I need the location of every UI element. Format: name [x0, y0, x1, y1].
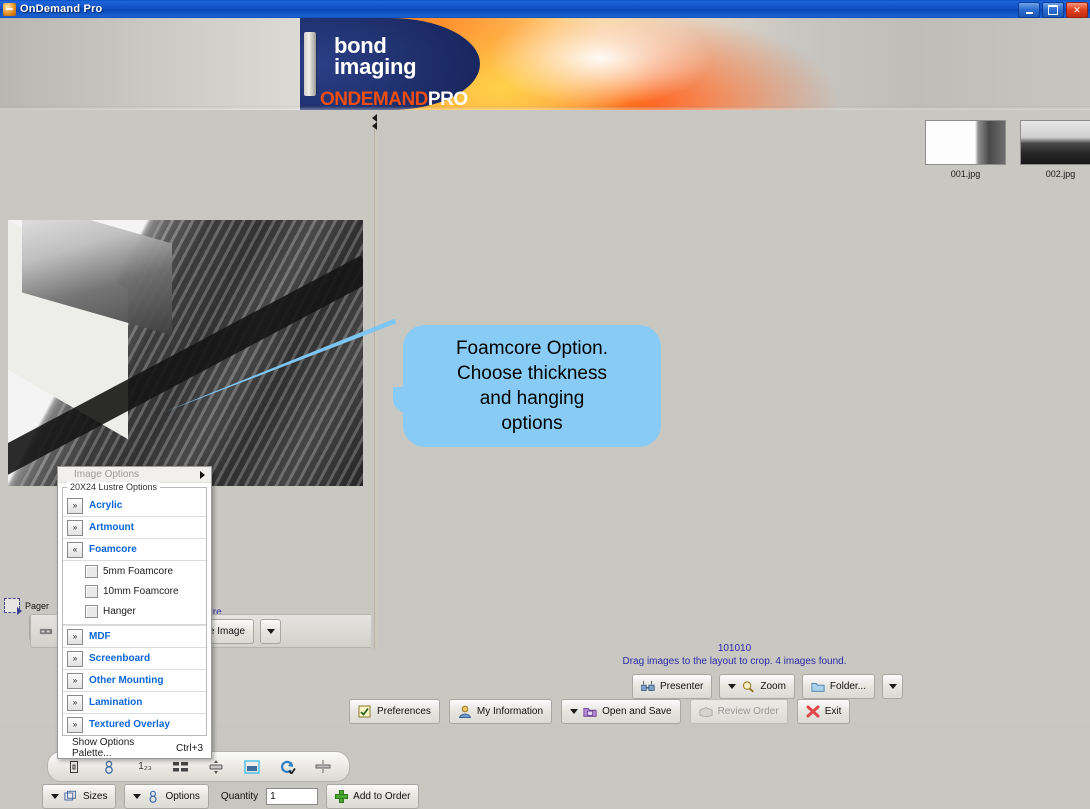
callout-text: Foamcore Option. Choose thickness and ha… — [456, 336, 608, 436]
fill-frame-icon[interactable] — [241, 757, 263, 777]
layout-icon[interactable] — [170, 757, 192, 777]
window-title: OnDemand Pro — [20, 3, 102, 15]
show-options-palette-label: Show Options Palette... — [72, 737, 162, 759]
rotate-options-dropdown[interactable] — [260, 619, 281, 644]
exit-label: Exit — [825, 706, 842, 717]
open-and-save-label: Open and Save — [602, 706, 672, 717]
folder-label: Folder... — [830, 681, 866, 692]
folder-icon — [811, 680, 825, 693]
chevron-left-icon — [372, 122, 377, 130]
lustre-options-rows: » Acrylic » Artmount « Foamcore 5mm Foam… — [63, 495, 206, 735]
thumbnail-strip: 001.jpg 002.jpg 003.jpg 004.jpg — [925, 120, 1090, 182]
callout-line-2: Choose thickness — [456, 361, 608, 386]
options-context-menu: Image Options 20X24 Lustre Options » Acr… — [57, 466, 212, 759]
open-save-icon — [583, 705, 597, 718]
option-label-acrylic: Acrylic — [89, 500, 122, 511]
app-window-icon — [3, 3, 16, 16]
options-person-icon — [146, 790, 160, 803]
review-order-button: Review Order — [690, 699, 788, 724]
sizes-button[interactable]: Sizes — [42, 784, 116, 809]
brand-bond: bond — [334, 36, 387, 56]
box-icon — [699, 705, 713, 718]
checkbox-label-10mm-foamcore: 10mm Foamcore — [103, 586, 179, 597]
close-button[interactable]: ✕ — [1066, 2, 1088, 18]
chevron-left-icon — [372, 114, 377, 122]
folder-dropdown-button[interactable] — [882, 674, 903, 699]
option-label-screenboard: Screenboard — [89, 653, 150, 664]
thumbnail-image — [925, 120, 1006, 165]
thumbnail-item[interactable]: 001.jpg — [925, 120, 1006, 182]
callout-line-4: options — [456, 411, 608, 436]
filmstrip-icon — [39, 625, 53, 638]
exit-x-icon — [806, 705, 820, 718]
numbering-icon[interactable]: 1₂₃ — [134, 757, 156, 777]
logo-clip-icon — [304, 32, 316, 96]
option-label-other-mounting: Other Mounting — [89, 675, 163, 686]
checkbox-hanger[interactable] — [85, 605, 98, 618]
expand-icon[interactable]: » — [67, 651, 83, 667]
my-information-label: My Information — [477, 706, 543, 717]
splitter-collapse-arrows[interactable] — [371, 114, 379, 130]
chevron-down-icon — [267, 629, 275, 634]
open-and-save-button[interactable]: Open and Save — [561, 699, 681, 724]
option-row-lamination[interactable]: » Lamination — [63, 692, 206, 714]
checkbox-label-hanger: Hanger — [103, 606, 136, 617]
chevron-down-icon — [889, 684, 897, 689]
add-to-order-button[interactable]: Add to Order — [326, 784, 419, 809]
expand-icon[interactable]: » — [67, 717, 83, 733]
thumbnail-label: 001.jpg — [925, 168, 1006, 180]
sizes-label: Sizes — [83, 791, 107, 802]
collapse-icon[interactable]: « — [67, 542, 83, 558]
quantity-input[interactable] — [266, 788, 318, 805]
pane-splitter[interactable] — [371, 110, 379, 723]
checkbox-row-5mm-foamcore[interactable]: 5mm Foamcore — [63, 561, 206, 581]
workspace: Pager g stre — [0, 110, 1090, 723]
option-row-textured-overlay[interactable]: » Textured Overlay — [63, 714, 206, 735]
expand-icon[interactable]: » — [67, 695, 83, 711]
review-order-label: Review Order — [718, 706, 779, 717]
checkbox-row-10mm-foamcore[interactable]: 10mm Foamcore — [63, 581, 206, 601]
menu-item-image-options-label: Image Options — [74, 469, 139, 480]
presenter-button[interactable]: Presenter — [632, 674, 712, 699]
crop-icon[interactable] — [63, 757, 85, 777]
pager-label: Pager — [25, 601, 49, 611]
exit-button[interactable]: Exit — [797, 699, 851, 724]
center-icon[interactable] — [312, 757, 334, 777]
checkbox-10mm-foamcore[interactable] — [85, 585, 98, 598]
rotate-apply-icon[interactable] — [277, 757, 299, 777]
callout-line-3: and hanging — [456, 386, 608, 411]
quantity-label: Quantity — [221, 791, 258, 802]
zoom-label: Zoom — [760, 681, 786, 692]
maximize-button[interactable] — [1042, 2, 1064, 18]
checkbox-row-hanger[interactable]: Hanger — [63, 601, 206, 621]
presenter-icon — [641, 680, 655, 693]
option-row-mdf[interactable]: » MDF — [63, 625, 206, 648]
callout-line-1: Foamcore Option. — [456, 336, 608, 361]
option-row-screenboard[interactable]: » Screenboard — [63, 648, 206, 670]
option-row-foamcore[interactable]: « Foamcore — [63, 539, 206, 561]
thumbnail-item[interactable]: 002.jpg — [1020, 120, 1090, 182]
option-label-artmount: Artmount — [89, 522, 134, 533]
brand-imaging: imaging — [334, 57, 416, 77]
folder-button[interactable]: Folder... — [802, 674, 875, 699]
job-number: 101010 — [379, 643, 1090, 654]
order-action-bar: Sizes Options Quantity Add to Order — [42, 784, 419, 809]
pager-icon — [4, 598, 20, 613]
preferences-button[interactable]: Preferences — [349, 699, 440, 724]
zoom-button[interactable]: Zoom — [719, 674, 795, 699]
expand-icon[interactable]: » — [67, 673, 83, 689]
show-options-palette-shortcut: Ctrl+3 — [176, 743, 203, 754]
app-banner: bond imaging ONDEMANDPRO — [0, 18, 1090, 110]
checkbox-5mm-foamcore[interactable] — [85, 565, 98, 578]
expand-icon[interactable]: » — [67, 498, 83, 514]
splitter-bar — [374, 124, 377, 649]
chevron-right-icon — [200, 471, 205, 479]
pager-button[interactable]: Pager — [4, 598, 49, 613]
option-label-textured-overlay: Textured Overlay — [89, 719, 170, 730]
option-label-mdf: MDF — [89, 631, 111, 642]
preferences-label: Preferences — [377, 706, 431, 717]
user-icon — [458, 705, 472, 718]
annotation-callout: Foamcore Option. Choose thickness and ha… — [403, 325, 661, 447]
plus-icon — [335, 790, 348, 803]
option-row-acrylic[interactable]: » Acrylic — [63, 495, 206, 517]
zoom-icon — [741, 680, 755, 693]
add-to-order-label: Add to Order — [353, 791, 410, 802]
chevron-down-icon — [51, 794, 59, 799]
menu-item-show-options-palette[interactable]: Show Options Palette... Ctrl+3 — [58, 738, 211, 758]
option-label-lamination: Lamination — [89, 697, 142, 708]
chevron-down-icon — [133, 794, 141, 799]
options-label: Options — [165, 791, 199, 802]
chevron-down-icon — [570, 709, 578, 714]
thumbnail-label: 002.jpg — [1020, 168, 1090, 180]
minimize-button[interactable] — [1018, 2, 1040, 18]
expand-icon[interactable]: » — [67, 520, 83, 536]
window-controls: ✕ — [1018, 2, 1088, 18]
menu-item-image-options[interactable]: Image Options — [58, 467, 211, 483]
thumbnail-image — [1020, 120, 1090, 165]
expand-icon[interactable]: » — [67, 629, 83, 645]
presenter-label: Presenter — [660, 681, 703, 692]
window-titlebar[interactable]: OnDemand Pro ✕ — [0, 0, 1090, 18]
chevron-down-icon — [728, 684, 736, 689]
options-button[interactable]: Options — [124, 784, 208, 809]
right-button-row: Presenter Zoom Folder... — [632, 674, 903, 699]
checkbox-icon — [358, 705, 372, 718]
option-row-other-mounting[interactable]: » Other Mounting — [63, 670, 206, 692]
lustre-options-title: 20X24 Lustre Options — [67, 482, 160, 492]
option-label-foamcore: Foamcore — [89, 544, 137, 555]
person-icon[interactable] — [98, 757, 120, 777]
lustre-options-group: 20X24 Lustre Options » Acrylic » Artmoun… — [62, 487, 207, 736]
my-information-button[interactable]: My Information — [449, 699, 552, 724]
status-message: Drag images to the layout to crop. 4 ima… — [379, 656, 1090, 667]
checkbox-label-5mm-foamcore: 5mm Foamcore — [103, 566, 173, 577]
sizes-icon — [64, 790, 78, 803]
small-image-button[interactable] — [37, 620, 55, 643]
flip-vertical-icon[interactable] — [205, 757, 227, 777]
option-row-artmount[interactable]: » Artmount — [63, 517, 206, 539]
bottom-button-bar: Preferences My Information Open and Save… — [349, 699, 850, 724]
